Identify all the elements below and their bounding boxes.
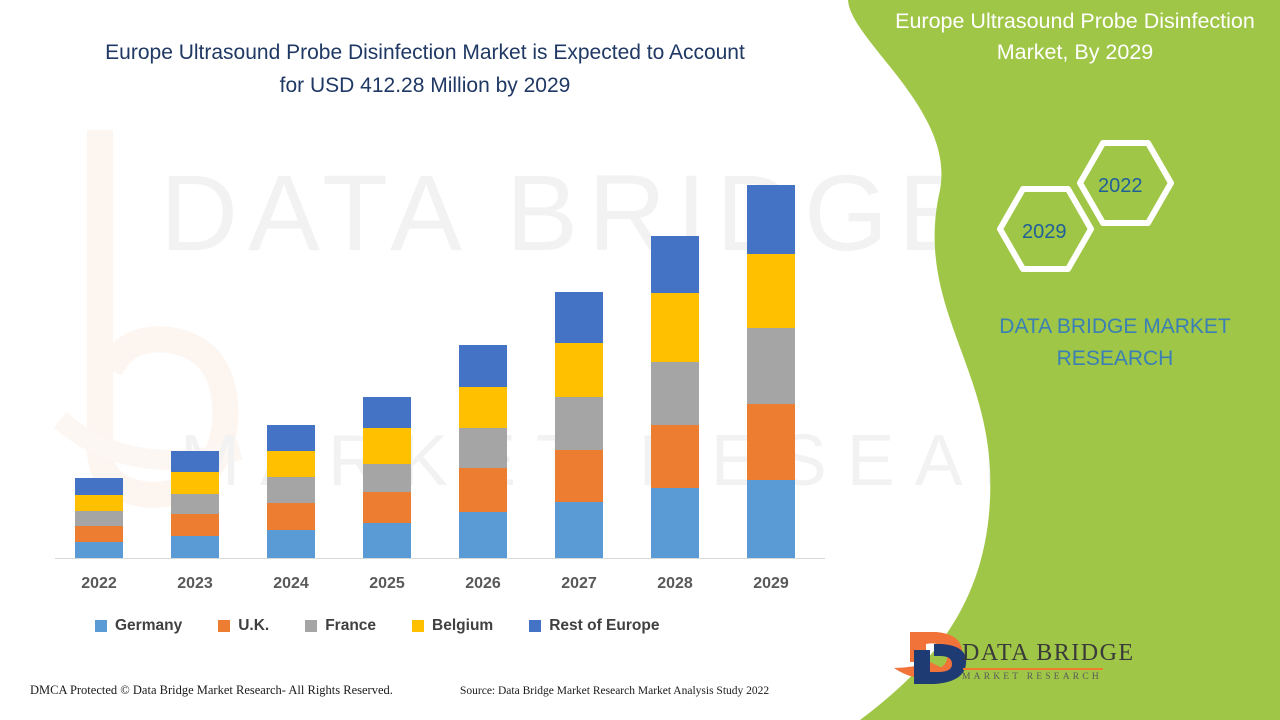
bar-2026 bbox=[459, 345, 507, 558]
x-axis-label-2029: 2029 bbox=[726, 575, 816, 593]
bar-2023 bbox=[171, 451, 219, 558]
x-axis-label-2028: 2028 bbox=[630, 575, 720, 593]
hexagon-label-2029: 2029 bbox=[1022, 221, 1067, 244]
bar-segment-france bbox=[651, 362, 699, 425]
logo-sub-text: MARKET RESEARCH bbox=[962, 672, 1135, 682]
bar-segment-france bbox=[171, 494, 219, 514]
bar-segment-belgium bbox=[363, 428, 411, 464]
bar-segment-u-k bbox=[651, 425, 699, 488]
bar-segment-france bbox=[75, 511, 123, 526]
bar-2027 bbox=[555, 292, 603, 558]
bar-2022 bbox=[75, 478, 123, 558]
bar-segment-rest-of-europe bbox=[267, 425, 315, 451]
bar-2024 bbox=[267, 425, 315, 558]
bar-segment-belgium bbox=[555, 343, 603, 397]
brand-name-text: DATA BRIDGE MARKET RESEARCH bbox=[960, 311, 1270, 375]
bar-segment-u-k bbox=[75, 526, 123, 542]
legend-swatch-rest-of-europe bbox=[529, 620, 541, 632]
x-axis-label-2022: 2022 bbox=[54, 575, 144, 593]
bar-segment-belgium bbox=[459, 387, 507, 428]
legend-swatch-france bbox=[305, 620, 317, 632]
bar-segment-u-k bbox=[267, 503, 315, 530]
bar-segment-rest-of-europe bbox=[363, 397, 411, 428]
legend-label-germany: Germany bbox=[115, 617, 182, 635]
panel-title: Europe Ultrasound Probe Disinfection Mar… bbox=[880, 6, 1270, 68]
bar-segment-u-k bbox=[171, 514, 219, 536]
dmca-notice: DMCA Protected © Data Bridge Market Rese… bbox=[30, 683, 393, 698]
bar-segment-rest-of-europe bbox=[459, 345, 507, 387]
bar-chart-plot: 20222023202420252026202720282029 bbox=[0, 0, 840, 600]
bar-segment-rest-of-europe bbox=[171, 451, 219, 472]
bar-segment-belgium bbox=[267, 451, 315, 477]
x-axis-line bbox=[55, 558, 825, 559]
bar-segment-belgium bbox=[747, 254, 795, 328]
bar-segment-u-k bbox=[747, 404, 795, 480]
bar-segment-germany bbox=[363, 523, 411, 558]
bar-segment-france bbox=[747, 328, 795, 404]
legend-swatch-belgium bbox=[412, 620, 424, 632]
bar-segment-u-k bbox=[555, 450, 603, 502]
bar-segment-france bbox=[267, 477, 315, 503]
legend-item-germany[interactable]: Germany bbox=[95, 617, 182, 635]
logo-rule bbox=[963, 668, 1103, 670]
bar-segment-france bbox=[459, 428, 507, 468]
x-axis-label-2026: 2026 bbox=[438, 575, 528, 593]
bar-segment-rest-of-europe bbox=[75, 478, 123, 495]
bar-segment-france bbox=[555, 397, 603, 450]
bar-segment-germany bbox=[75, 542, 123, 558]
bar-segment-germany bbox=[747, 480, 795, 558]
bar-segment-germany bbox=[267, 530, 315, 558]
bar-segment-belgium bbox=[651, 293, 699, 362]
x-axis-label-2027: 2027 bbox=[534, 575, 624, 593]
source-note: Source: Data Bridge Market Research Mark… bbox=[460, 685, 769, 697]
legend-label-rest-of-europe: Rest of Europe bbox=[549, 617, 659, 635]
x-axis-label-2024: 2024 bbox=[246, 575, 336, 593]
legend-swatch-u-k bbox=[218, 620, 230, 632]
bar-2028 bbox=[651, 236, 699, 558]
bar-segment-france bbox=[363, 464, 411, 492]
x-axis-label-2023: 2023 bbox=[150, 575, 240, 593]
legend-item-rest-of-europe[interactable]: Rest of Europe bbox=[529, 617, 659, 635]
bar-2029 bbox=[747, 185, 795, 558]
legend-item-france[interactable]: France bbox=[305, 617, 376, 635]
bar-segment-belgium bbox=[75, 495, 123, 511]
legend-item-u-k[interactable]: U.K. bbox=[218, 617, 269, 635]
bar-2025 bbox=[363, 397, 411, 558]
logo-text-block: DATA BRIDGE MARKET RESEARCH bbox=[962, 640, 1135, 682]
legend-label-u-k: U.K. bbox=[238, 617, 269, 635]
legend-swatch-germany bbox=[95, 620, 107, 632]
legend-label-france: France bbox=[325, 617, 376, 635]
bar-segment-rest-of-europe bbox=[651, 236, 699, 293]
bar-segment-u-k bbox=[459, 468, 507, 512]
bar-segment-u-k bbox=[363, 492, 411, 523]
bar-segment-germany bbox=[171, 536, 219, 558]
bar-segment-germany bbox=[555, 502, 603, 558]
logo-main-text: DATA BRIDGE bbox=[962, 640, 1135, 667]
bar-segment-belgium bbox=[171, 472, 219, 494]
legend-label-belgium: Belgium bbox=[432, 617, 493, 635]
infographic-root: DATA BRIDGE MARKET RESEARCH Europe Ultra… bbox=[0, 0, 1280, 720]
bar-segment-germany bbox=[459, 512, 507, 558]
hexagon-label-2022: 2022 bbox=[1098, 175, 1143, 198]
hexagon-pair bbox=[985, 135, 1185, 285]
legend-item-belgium[interactable]: Belgium bbox=[412, 617, 493, 635]
bar-segment-rest-of-europe bbox=[555, 292, 603, 343]
bar-segment-rest-of-europe bbox=[747, 185, 795, 254]
chart-legend: GermanyU.K.FranceBelgiumRest of Europe bbox=[95, 617, 795, 635]
bar-segment-germany bbox=[651, 488, 699, 558]
x-axis-label-2025: 2025 bbox=[342, 575, 432, 593]
